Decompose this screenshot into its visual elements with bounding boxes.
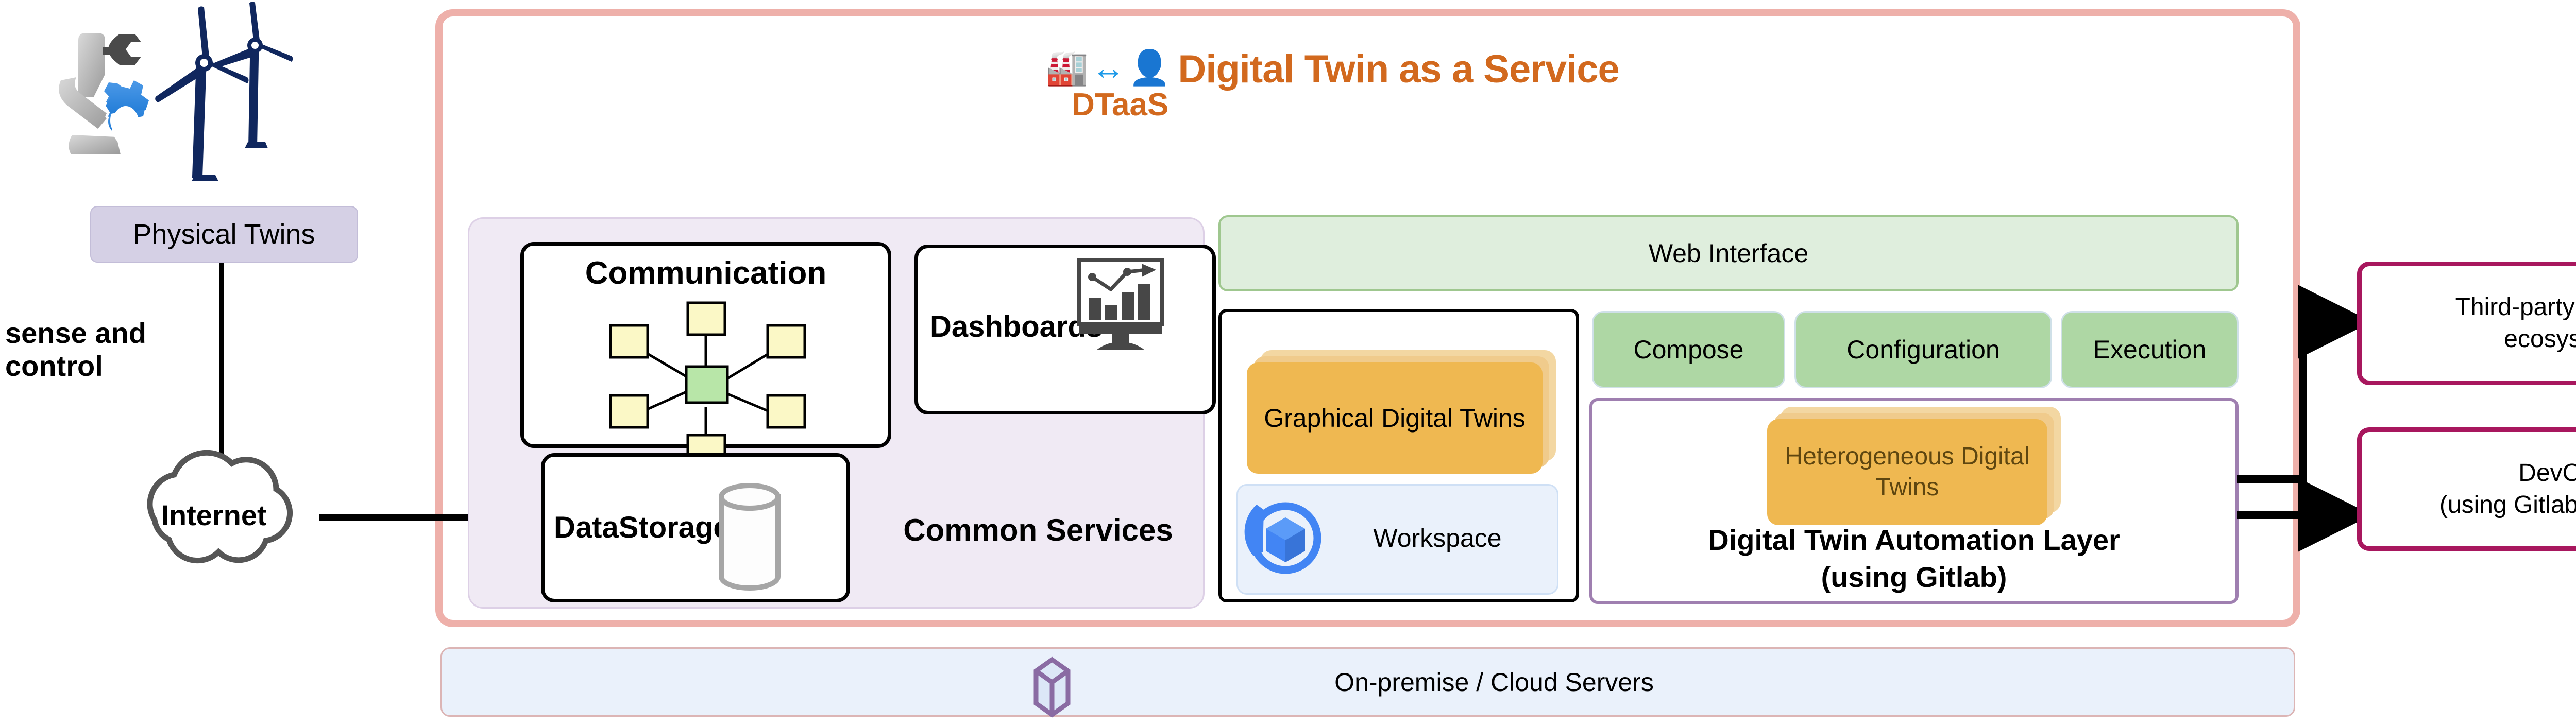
workspace-label: Workspace	[1329, 502, 1546, 574]
left-right-arrow-icon: ↔	[1091, 49, 1125, 85]
factory-icon: 🏭	[1046, 49, 1088, 85]
configuration-pill[interactable]: Configuration	[1794, 311, 2052, 388]
sense-and-control-label: sense and control	[5, 317, 160, 383]
dashboards-label: Dash boards	[930, 260, 1079, 394]
automation-layer-line1: Digital Twin Automation Layer	[1708, 524, 2120, 556]
physical-twins-box: Physical Twins	[90, 206, 358, 263]
data-storage-line1: Data	[554, 510, 619, 546]
third-party-line1: Third-party DevOps	[2455, 293, 2576, 321]
automation-layer-label: Digital Twin Automation Layer (using Git…	[1600, 515, 2228, 602]
robot-arm-gear-icon	[59, 33, 150, 154]
graphical-digital-twins-stack[interactable]: Graphical Digital Twins	[1247, 350, 1556, 474]
common-services-label: Common Services	[884, 463, 1193, 597]
third-party-line2: ecosystem	[2504, 325, 2576, 353]
graphical-digital-twins-label: Graphical Digital Twins	[1247, 362, 1543, 474]
wind-turbine-icon	[155, 2, 293, 181]
web-interface-bar[interactable]: Web Interface	[1218, 215, 2239, 291]
devops-line1: DevOps	[2518, 459, 2576, 487]
dashboards-label-line2: boards	[1003, 310, 1103, 344]
servers-label: On-premise / Cloud Servers	[1185, 656, 1803, 708]
internet-label: Internet	[106, 492, 322, 538]
dtaas-title-text: Digital Twin as a Service	[1178, 49, 1619, 90]
automation-layer-line2: (using Gitlab)	[1821, 561, 2007, 593]
data-storage-label: Data Storage	[554, 471, 724, 584]
heterogeneous-digital-twins-stack[interactable]: Heterogeneous Digital Twins	[1767, 407, 2061, 525]
dashboards-label-line1: Dash	[930, 310, 1003, 344]
dtaas-title: 🏭 ↔ 👤 Digital Twin as a Service	[1046, 49, 1870, 116]
devops-box[interactable]: DevOps (using Gitlab Runners)	[2357, 427, 2576, 551]
user-icon: 👤	[1128, 49, 1171, 85]
dtaas-abbreviation: DTaaS	[1072, 87, 1168, 123]
data-storage-line2: Storage	[619, 510, 730, 546]
communication-label: Communication	[520, 252, 891, 293]
devops-line2: (using Gitlab Runners)	[2439, 491, 2576, 518]
compose-pill[interactable]: Compose	[1592, 311, 1785, 388]
heterogeneous-digital-twins-label: Heterogeneous Digital Twins	[1767, 419, 2047, 525]
execution-pill[interactable]: Execution	[2061, 311, 2239, 388]
third-party-devops-box[interactable]: Third-party DevOps ecosystem	[2357, 262, 2576, 385]
